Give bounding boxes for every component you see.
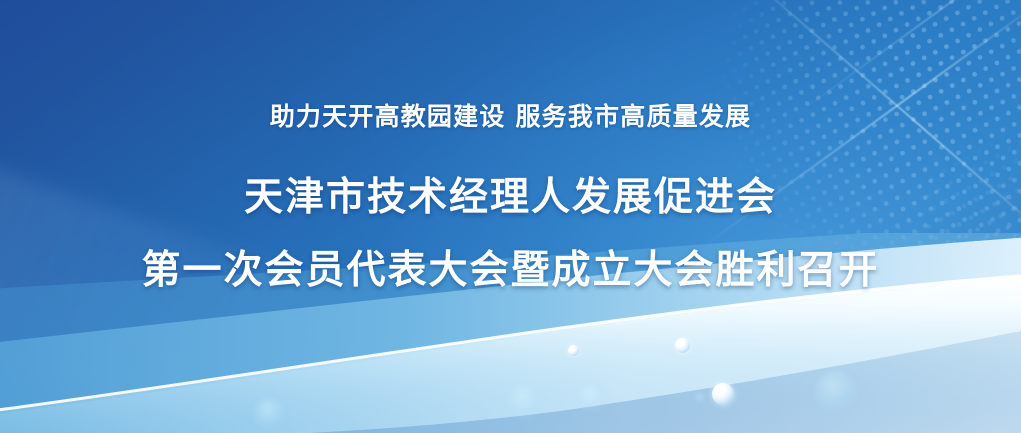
banner-title-line-2: 第一次会员代表大会暨成立大会胜利召开 bbox=[141, 247, 879, 295]
banner-title-block: 天津市技术经理人发展促进会 第一次会员代表大会暨成立大会胜利召开 bbox=[141, 174, 879, 294]
event-banner: 助力天开高教园建设 服务我市高质量发展 天津市技术经理人发展促进会 第一次会员代… bbox=[0, 0, 1021, 433]
banner-title-line-1: 天津市技术经理人发展促进会 bbox=[244, 174, 777, 222]
banner-subtitle: 助力天开高教园建设 服务我市高质量发展 bbox=[270, 101, 752, 132]
banner-content: 助力天开高教园建设 服务我市高质量发展 天津市技术经理人发展促进会 第一次会员代… bbox=[0, 0, 1021, 433]
